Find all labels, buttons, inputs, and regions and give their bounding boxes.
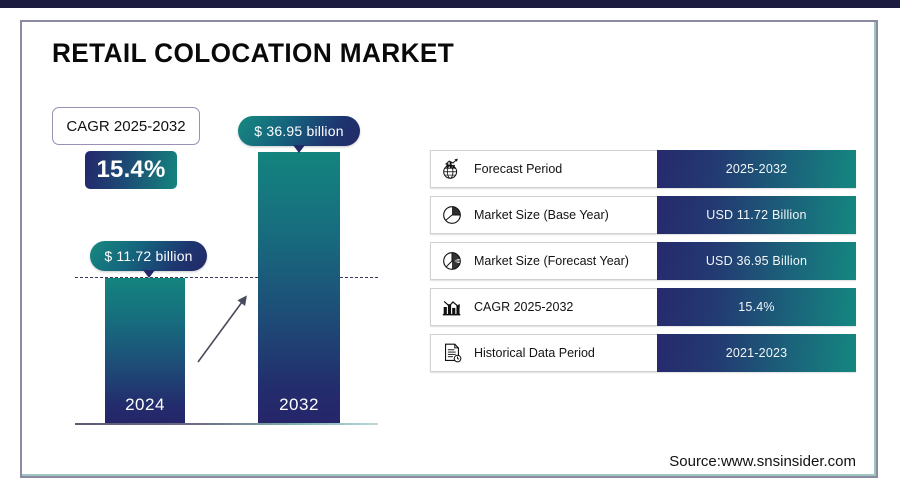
infographic-canvas: RETAIL COLOCATION MARKET CAGR 2025-2032 … bbox=[0, 0, 900, 500]
spec-table: Forecast Period 2025-2032 Market Size (B… bbox=[430, 150, 856, 380]
spec-label-text: Market Size (Base Year) bbox=[474, 208, 609, 222]
spec-label-text: Historical Data Period bbox=[474, 346, 595, 360]
bar-chart-trend-icon bbox=[439, 294, 465, 320]
spec-value-text: 2025-2032 bbox=[726, 162, 788, 176]
spec-label-cell: Forecast Period bbox=[430, 150, 657, 188]
table-row: Market Size (Base Year) USD 11.72 Billio… bbox=[430, 196, 856, 234]
value-pill-2024-text: $ 11.72 billion bbox=[104, 248, 192, 264]
top-accent-strip bbox=[0, 0, 900, 8]
document-clock-icon bbox=[439, 340, 465, 366]
value-pill-2024: $ 11.72 billion bbox=[90, 241, 207, 271]
spec-value-text: USD 36.95 Billion bbox=[706, 254, 807, 268]
table-row: CAGR 2025-2032 15.4% bbox=[430, 288, 856, 326]
bar-label-2024: 2024 bbox=[105, 395, 185, 415]
spec-value-text: 2021-2023 bbox=[726, 346, 788, 360]
spec-label-cell: CAGR 2025-2032 bbox=[430, 288, 657, 326]
spec-value-cell: 2025-2032 bbox=[657, 150, 856, 188]
value-pill-2032: $ 36.95 billion bbox=[238, 116, 360, 146]
bar-label-2032: 2032 bbox=[258, 395, 340, 415]
spec-label-cell: Market Size (Base Year) bbox=[430, 196, 657, 234]
globe-trend-icon bbox=[439, 156, 465, 182]
spec-label-text: Forecast Period bbox=[474, 162, 562, 176]
bar-2024: 2024 bbox=[105, 278, 185, 423]
table-row: Historical Data Period 2021-2023 bbox=[430, 334, 856, 372]
table-row: Forecast Period 2025-2032 bbox=[430, 150, 856, 188]
page-title: RETAIL COLOCATION MARKET bbox=[52, 38, 454, 69]
source-attribution: Source:www.snsinsider.com bbox=[669, 453, 856, 470]
table-row: Market Size (Forecast Year) USD 36.95 Bi… bbox=[430, 242, 856, 280]
spec-value-cell: USD 36.95 Billion bbox=[657, 242, 856, 280]
value-pill-2032-text: $ 36.95 billion bbox=[254, 123, 343, 139]
spec-value-cell: 2021-2023 bbox=[657, 334, 856, 372]
bar-2032: 2032 bbox=[258, 152, 340, 423]
spec-label-text: Market Size (Forecast Year) bbox=[474, 254, 629, 268]
spec-value-cell: USD 11.72 Billion bbox=[657, 196, 856, 234]
spec-value-cell: 15.4% bbox=[657, 288, 856, 326]
spec-label-text: CAGR 2025-2032 bbox=[474, 300, 573, 314]
chart-baseline-axis bbox=[75, 423, 378, 425]
pie-chart-segments-icon bbox=[439, 248, 465, 274]
spec-value-text: 15.4% bbox=[738, 300, 774, 314]
spec-label-cell: Historical Data Period bbox=[430, 334, 657, 372]
bar-chart: 2024 2032 bbox=[60, 110, 400, 440]
spec-label-cell: Market Size (Forecast Year) bbox=[430, 242, 657, 280]
growth-arrow-icon bbox=[190, 280, 260, 370]
spec-value-text: USD 11.72 Billion bbox=[706, 208, 806, 222]
pie-chart-icon bbox=[439, 202, 465, 228]
